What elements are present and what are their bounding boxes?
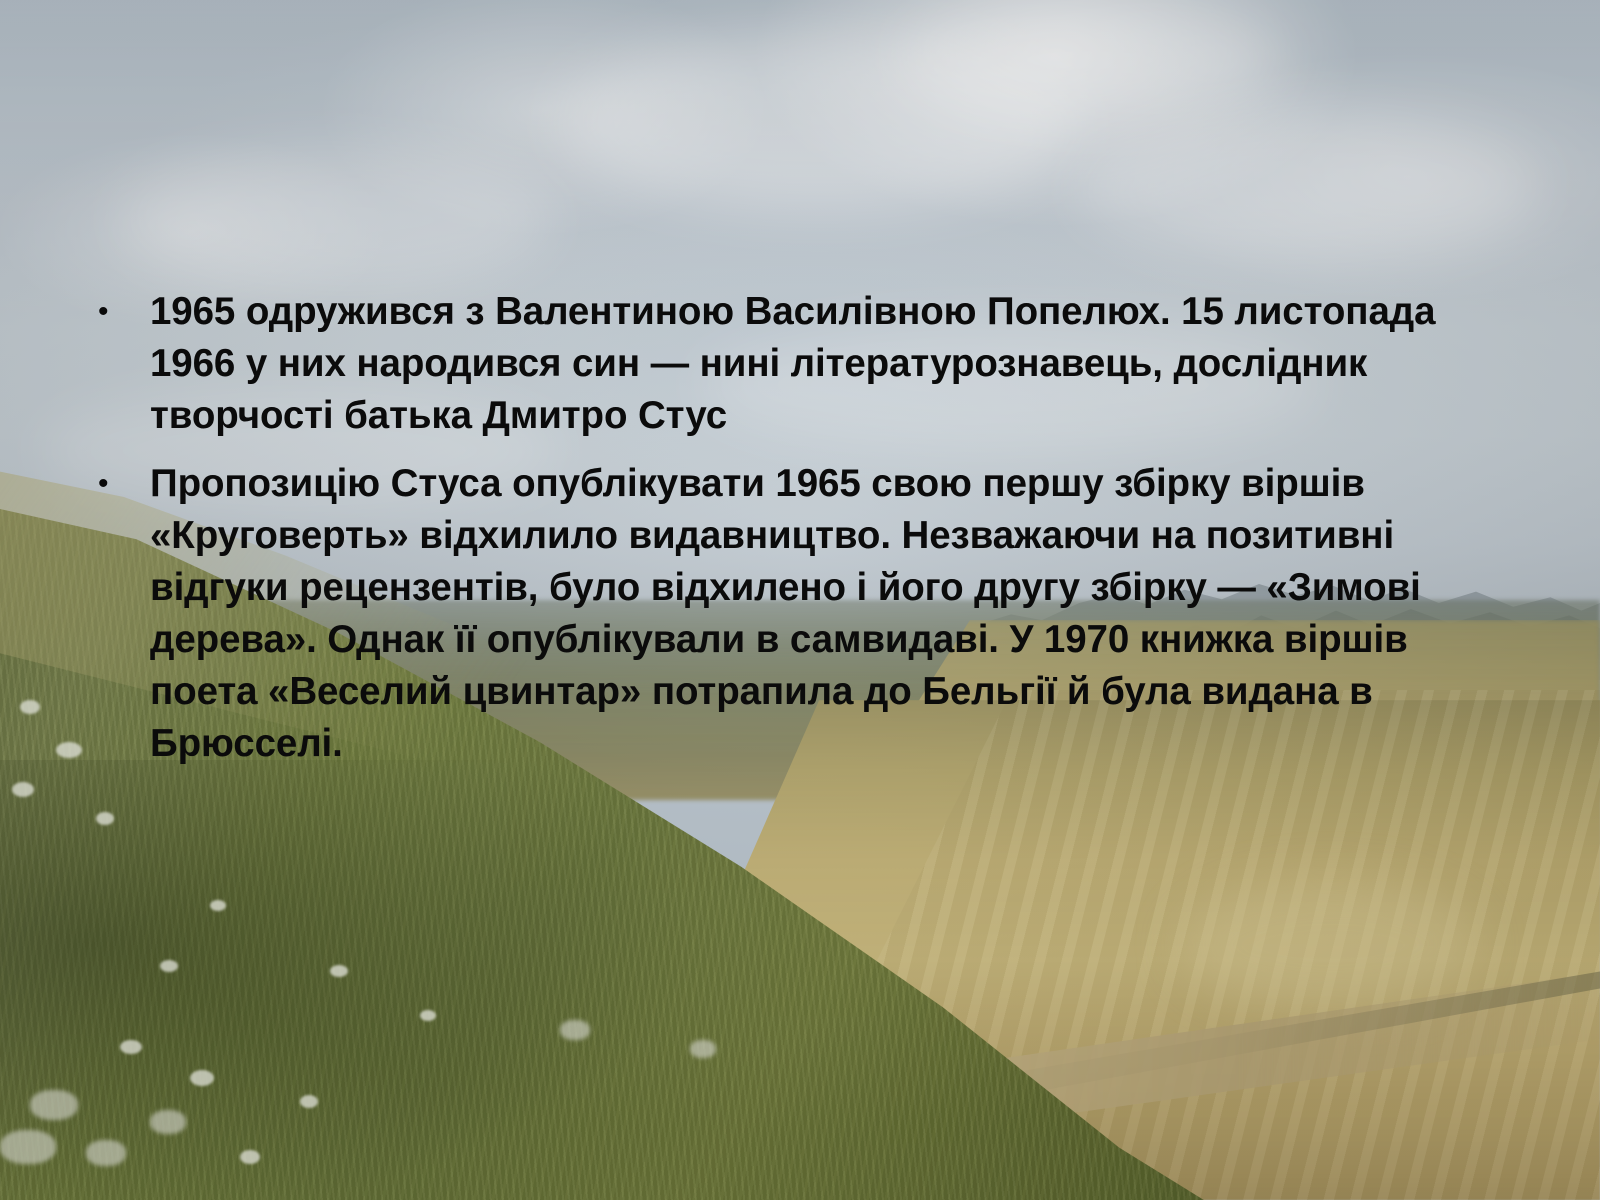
bullet-text: Пропозицію Стуса опублікувати 1965 свою … bbox=[150, 458, 1480, 770]
bullet-list: • 1965 одружився з Валентиною Василівною… bbox=[88, 286, 1488, 786]
list-item: • 1965 одружився з Валентиною Василівною… bbox=[88, 286, 1488, 442]
list-item: • Пропозицію Стуса опублікувати 1965 сво… bbox=[88, 458, 1488, 770]
slide-content: • 1965 одружився з Валентиною Василівною… bbox=[0, 0, 1600, 1200]
bullet-marker-icon: • bbox=[88, 286, 150, 338]
bullet-marker-icon: • bbox=[88, 458, 150, 510]
presentation-slide: • 1965 одружився з Валентиною Василівною… bbox=[0, 0, 1600, 1200]
bullet-text: 1965 одружився з Валентиною Василівною П… bbox=[150, 286, 1450, 442]
